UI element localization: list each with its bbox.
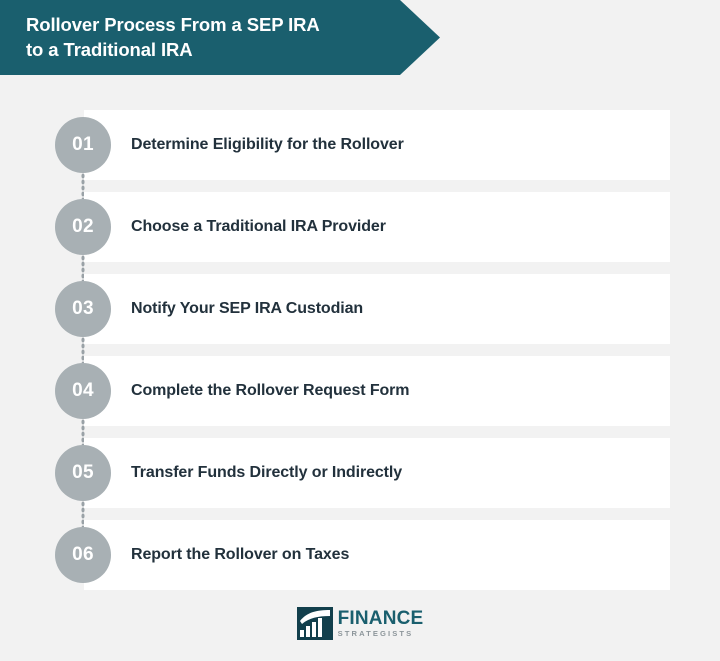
page-title: Rollover Process From a SEP IRA to a Tra… <box>26 13 320 63</box>
header-banner: Rollover Process From a SEP IRA to a Tra… <box>0 0 440 75</box>
footer: FINANCE STRATEGISTS <box>0 585 720 661</box>
step-number: 05 <box>72 462 94 484</box>
step-number: 03 <box>72 298 94 320</box>
step-label: Report the Rollover on Taxes <box>131 520 349 590</box>
step-number: 01 <box>72 134 94 156</box>
step-badge: 02 <box>55 199 111 255</box>
steps-list: Determine Eligibility for the Rollover 0… <box>0 75 720 585</box>
step-label: Transfer Funds Directly or Indirectly <box>131 438 402 508</box>
list-item: Complete the Rollover Request Form 04 <box>0 356 720 426</box>
step-label: Choose a Traditional IRA Provider <box>131 192 386 262</box>
step-badge: 05 <box>55 445 111 501</box>
step-number: 06 <box>72 544 94 566</box>
list-item: Transfer Funds Directly or Indirectly 05 <box>0 438 720 508</box>
step-label: Notify Your SEP IRA Custodian <box>131 274 363 344</box>
step-badge: 01 <box>55 117 111 173</box>
brand-name: FINANCE <box>338 609 424 628</box>
infographic-canvas: Rollover Process From a SEP IRA to a Tra… <box>0 0 720 661</box>
list-item: Report the Rollover on Taxes 06 <box>0 520 720 590</box>
brand-tagline: STRATEGISTS <box>338 630 424 638</box>
step-badge: 04 <box>55 363 111 419</box>
step-badge: 03 <box>55 281 111 337</box>
step-number: 02 <box>72 216 94 238</box>
finance-strategists-logo-icon <box>297 607 333 640</box>
step-label: Complete the Rollover Request Form <box>131 356 409 426</box>
step-label: Determine Eligibility for the Rollover <box>131 110 404 180</box>
brand-wordmark: FINANCE STRATEGISTS <box>338 609 424 638</box>
brand-logo: FINANCE STRATEGISTS <box>297 607 424 640</box>
list-item: Notify Your SEP IRA Custodian 03 <box>0 274 720 344</box>
list-item: Choose a Traditional IRA Provider 02 <box>0 192 720 262</box>
step-number: 04 <box>72 380 94 402</box>
list-item: Determine Eligibility for the Rollover 0… <box>0 110 720 180</box>
step-badge: 06 <box>55 527 111 583</box>
